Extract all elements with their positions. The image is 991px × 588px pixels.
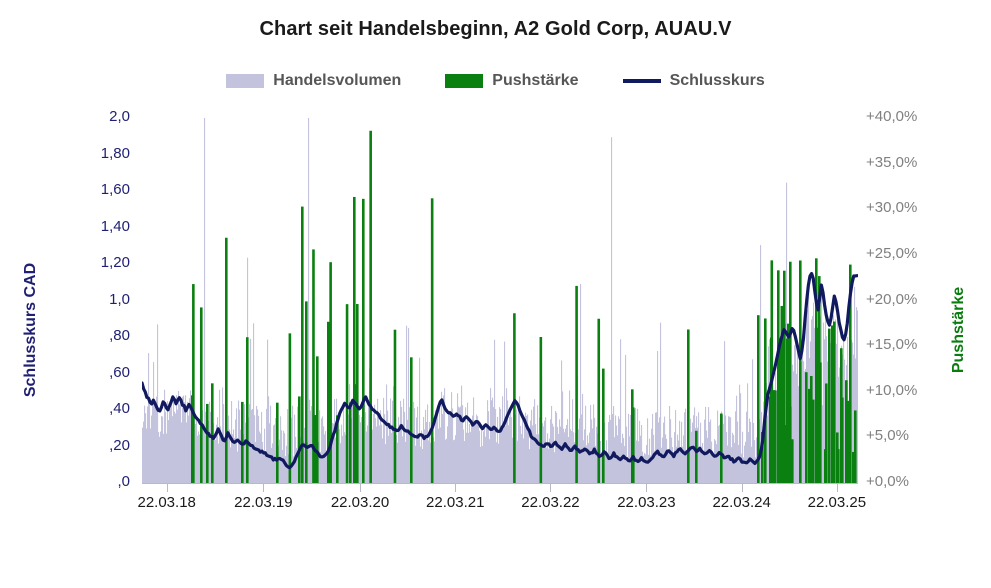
volume-bar — [797, 348, 798, 483]
push-bar — [513, 313, 516, 483]
volume-bar — [457, 393, 458, 483]
volume-bar — [172, 416, 173, 483]
volume-bar — [568, 437, 569, 483]
volume-bar — [175, 414, 176, 483]
volume-bar — [267, 340, 268, 483]
y-axis-right-tick-label: +0,0% — [866, 473, 936, 490]
x-axis-tick-mark — [167, 484, 168, 492]
volume-bar — [637, 409, 638, 483]
volume-bar — [145, 413, 146, 483]
volume-bar — [454, 440, 455, 483]
legend-item-pushstaerke[interactable]: Pushstärke — [445, 72, 578, 90]
volume-bar — [319, 410, 320, 483]
volume-bar — [669, 406, 670, 483]
volume-bar — [446, 439, 447, 483]
volume-bar — [166, 434, 167, 483]
volume-bar — [606, 440, 607, 483]
volume-bar — [256, 406, 257, 483]
volume-bar — [196, 418, 197, 483]
volume-bar — [456, 416, 457, 483]
volume-bar — [281, 430, 282, 483]
volume-bar — [163, 434, 164, 483]
volume-bar — [382, 438, 383, 483]
volume-bar — [729, 417, 730, 483]
volume-bar — [585, 406, 586, 483]
volume-bar — [215, 440, 216, 483]
volume-bar — [425, 410, 426, 483]
volume-bar — [746, 412, 747, 483]
volume-bar — [471, 425, 472, 483]
volume-bar — [751, 447, 752, 483]
volume-bar — [623, 438, 624, 483]
volume-bar — [186, 422, 187, 483]
volume-bar — [508, 425, 509, 483]
volume-bar — [625, 355, 626, 483]
volume-bar — [452, 408, 453, 483]
volume-bar — [702, 443, 703, 483]
volume-bar — [228, 416, 229, 483]
volume-bar — [522, 419, 523, 483]
y-axis-right-tick-label: +25,0% — [866, 245, 936, 262]
volume-bar — [155, 408, 156, 483]
volume-bar — [152, 399, 153, 483]
volume-bar — [678, 440, 679, 483]
y-axis-right-tick-label: +10,0% — [866, 382, 936, 399]
volume-bar — [404, 412, 405, 483]
volume-bar — [391, 433, 392, 483]
volume-bar — [475, 424, 476, 483]
volume-bar — [162, 417, 163, 483]
volume-bar — [511, 417, 512, 483]
volume-bar — [448, 411, 449, 483]
volume-bar — [245, 423, 246, 483]
volume-bar — [744, 446, 745, 483]
volume-bar — [644, 453, 645, 483]
volume-bar — [532, 425, 533, 483]
push-bar — [812, 400, 815, 483]
volume-bar — [188, 416, 189, 483]
x-axis-line — [142, 483, 858, 484]
volume-bar — [727, 446, 728, 483]
volume-bar — [560, 427, 561, 483]
volume-bar — [233, 429, 234, 483]
volume-bar — [142, 428, 143, 483]
volume-bar — [146, 429, 147, 483]
x-axis-tick-label: 22.03.20 — [305, 494, 415, 511]
y-axis-left-tick-label: ,60 — [72, 364, 130, 381]
volume-bar — [557, 427, 558, 483]
volume-bar — [463, 430, 464, 483]
push-bar — [369, 131, 372, 483]
volume-bar — [736, 396, 737, 483]
volume-bar — [161, 416, 162, 483]
push-bar — [720, 414, 723, 483]
y-axis-right-tick-label: +40,0% — [866, 108, 936, 125]
volume-bar — [359, 415, 360, 483]
volume-bar — [624, 446, 625, 483]
volume-bar — [639, 421, 640, 483]
volume-bar — [498, 444, 499, 483]
volume-bar — [492, 398, 493, 483]
volume-bar — [447, 426, 448, 483]
push-bar — [301, 207, 304, 483]
volume-bar — [501, 432, 502, 483]
volume-bar — [550, 419, 551, 483]
volume-bar — [804, 371, 805, 483]
volume-bar — [253, 323, 254, 483]
volume-bar — [297, 407, 298, 483]
volume-bar — [250, 339, 251, 483]
volume-bar — [706, 431, 707, 483]
y-axis-left-tick-label: 2,0 — [72, 108, 130, 125]
volume-bar — [287, 409, 288, 483]
volume-bar — [630, 415, 631, 483]
volume-bar — [171, 403, 172, 483]
volume-bar — [738, 445, 739, 483]
volume-bar — [442, 414, 443, 483]
x-axis-tick-mark — [837, 484, 838, 492]
volume-bar — [170, 409, 171, 483]
volume-bar — [582, 394, 583, 483]
x-axis-tick-label: 22.03.24 — [687, 494, 797, 511]
volume-bar — [387, 411, 388, 483]
push-bar — [356, 304, 359, 483]
volume-bar — [584, 429, 585, 483]
volume-bar — [352, 404, 353, 483]
x-axis-tick-mark — [646, 484, 647, 492]
volume-bar — [504, 342, 505, 483]
volume-bar — [366, 432, 367, 483]
volume-bar — [563, 429, 564, 483]
volume-bar — [559, 419, 560, 483]
volume-bar — [700, 423, 701, 483]
volume-bar — [857, 310, 858, 483]
volume-bar — [160, 432, 161, 483]
volume-bar — [198, 431, 199, 483]
push-bar — [349, 402, 352, 483]
volume-bar — [516, 410, 517, 483]
y-axis-right-title: Pushstärke — [944, 230, 974, 430]
volume-bar — [677, 435, 678, 483]
x-axis-tick-label: 22.03.19 — [208, 494, 318, 511]
volume-bar — [655, 413, 656, 483]
volume-bar — [556, 413, 557, 483]
volume-bar — [613, 406, 614, 483]
volume-bar — [453, 440, 454, 483]
volume-bar — [561, 360, 562, 483]
volume-bar — [144, 406, 145, 483]
volume-bar — [461, 386, 462, 483]
volume-bar — [473, 397, 474, 483]
volume-bar — [269, 423, 270, 483]
volume-bar — [143, 422, 144, 483]
volume-bar — [199, 435, 200, 483]
volume-bar — [280, 416, 281, 483]
volume-bar — [662, 437, 663, 483]
x-axis-tick-label: 22.03.25 — [782, 494, 892, 511]
volume-bar — [506, 388, 507, 483]
volume-bar — [716, 444, 717, 483]
volume-bar — [334, 399, 335, 483]
volume-bar — [730, 417, 731, 483]
volume-bar — [503, 427, 504, 483]
volume-bar — [445, 440, 446, 483]
volume-bar — [420, 447, 421, 483]
push-bar — [819, 362, 822, 483]
volume-bar — [462, 405, 463, 483]
volume-bar — [400, 401, 401, 483]
volume-bar — [647, 418, 648, 483]
volume-bar — [418, 435, 419, 483]
y-axis-right-tick-label: +20,0% — [866, 291, 936, 308]
volume-bar — [518, 403, 519, 483]
legend-label-pushstaerke: Pushstärke — [492, 72, 578, 90]
volume-bar — [581, 414, 582, 483]
volume-bar — [481, 424, 482, 483]
volume-bar — [373, 414, 374, 483]
x-axis-tick-label: 22.03.18 — [112, 494, 222, 511]
volume-bar — [468, 433, 469, 483]
volume-bar — [645, 454, 646, 483]
push-bar — [431, 198, 434, 483]
volume-bar — [578, 429, 579, 483]
volume-bar — [197, 436, 198, 483]
volume-bar — [529, 449, 530, 483]
volume-bar — [679, 421, 680, 483]
volume-bar — [209, 402, 210, 483]
push-bar — [791, 439, 794, 483]
volume-bar — [489, 439, 490, 483]
push-bar — [305, 301, 308, 483]
volume-bar — [521, 434, 522, 483]
volume-bar — [753, 423, 754, 483]
volume-bar — [583, 440, 584, 483]
volume-bar — [593, 404, 594, 483]
volume-bar — [236, 408, 237, 483]
y-axis-right-tick-label: +5,0% — [866, 427, 936, 444]
y-axis-left-tick-label: ,80 — [72, 327, 130, 344]
volume-bar — [553, 427, 554, 483]
x-axis-tick-mark — [742, 484, 743, 492]
plot-area — [142, 118, 858, 483]
push-bar — [837, 449, 840, 483]
volume-bar — [234, 438, 235, 483]
push-bar — [774, 391, 777, 483]
volume-bar — [533, 407, 534, 483]
push-bar — [276, 403, 279, 483]
volume-bar — [158, 432, 159, 483]
volume-bar — [712, 452, 713, 483]
y-axis-left-tick-label: ,40 — [72, 400, 130, 417]
volume-bar — [474, 424, 475, 483]
volume-bar — [476, 414, 477, 483]
legend-item-handelsvolumen[interactable]: Handelsvolumen — [226, 72, 401, 90]
volume-bar — [495, 409, 496, 483]
volume-bar — [284, 433, 285, 483]
volume-bar — [385, 444, 386, 483]
volume-bar — [308, 118, 309, 483]
volume-bar — [668, 453, 669, 483]
push-bar — [575, 286, 578, 483]
chart-legend: Handelsvolumen Pushstärke Schlusskurs — [0, 72, 991, 90]
volume-bar — [378, 416, 379, 483]
volume-bar — [619, 419, 620, 483]
volume-bar — [374, 405, 375, 483]
volume-bar — [691, 432, 692, 483]
volume-bar — [235, 420, 236, 483]
push-bar — [316, 356, 319, 483]
volume-bar — [570, 429, 571, 483]
volume-bar — [794, 345, 795, 483]
volume-bar — [543, 426, 544, 483]
volume-bar — [747, 383, 748, 483]
y-axis-left-title-text: Schlusskurs CAD — [22, 263, 40, 397]
volume-bar — [600, 441, 601, 483]
volume-bar — [552, 424, 553, 483]
volume-bar — [496, 442, 497, 483]
page-title: Chart seit Handelsbeginn, A2 Gold Corp, … — [0, 18, 991, 41]
volume-bar — [270, 406, 271, 483]
volume-bar — [502, 396, 503, 483]
legend-push-swatch-icon — [445, 74, 483, 88]
volume-bar — [415, 446, 416, 483]
volume-bar — [169, 403, 170, 483]
volume-bar — [752, 359, 753, 483]
volume-bar — [567, 419, 568, 483]
volume-bar — [589, 433, 590, 483]
volume-bar — [184, 402, 185, 483]
volume-bar — [466, 433, 467, 483]
volume-bar — [685, 409, 686, 483]
volume-bar — [477, 416, 478, 483]
volume-bar — [401, 407, 402, 483]
y-axis-left-title: Schlusskurs CAD — [16, 210, 46, 450]
volume-bar — [335, 438, 336, 483]
volume-bar — [402, 436, 403, 483]
volume-bar — [798, 386, 799, 483]
x-axis-tick-label: 22.03.23 — [591, 494, 701, 511]
volume-bar — [694, 407, 695, 483]
volume-bar — [383, 398, 384, 483]
volume-bar — [421, 431, 422, 483]
volume-bar — [748, 432, 749, 483]
volume-bar — [259, 432, 260, 484]
volume-bar — [485, 437, 486, 483]
legend-item-schlusskurs[interactable]: Schlusskurs — [623, 72, 765, 90]
volume-bar — [671, 438, 672, 483]
volume-bar — [419, 358, 420, 483]
volume-bar — [405, 442, 406, 483]
volume-bar — [341, 425, 342, 483]
volume-bar — [713, 455, 714, 483]
volume-bar — [438, 429, 439, 483]
volume-bar — [283, 431, 284, 483]
volume-bar — [544, 421, 545, 483]
volume-bar — [265, 453, 266, 483]
volume-bar — [728, 416, 729, 483]
volume-bar — [796, 374, 797, 483]
push-bar — [289, 333, 292, 483]
volume-bar — [749, 419, 750, 483]
volume-bar — [621, 443, 622, 483]
push-bar — [346, 304, 349, 483]
volume-bar — [230, 447, 231, 483]
legend-price-line-icon — [623, 79, 661, 83]
volume-bar — [520, 426, 521, 483]
volume-bar — [717, 410, 718, 483]
volume-bar — [262, 442, 263, 483]
volume-bar — [154, 401, 155, 483]
volume-bar — [372, 429, 373, 483]
volume-bar — [339, 429, 340, 483]
push-bar — [841, 398, 844, 484]
volume-bar — [588, 443, 589, 483]
volume-bar — [592, 428, 593, 483]
volume-bar — [422, 449, 423, 483]
volume-bar — [535, 424, 536, 483]
volume-bar — [562, 391, 563, 483]
volume-bar — [667, 453, 668, 483]
push-bar — [825, 383, 828, 483]
volume-bar — [367, 425, 368, 483]
volume-bar — [271, 448, 272, 483]
volume-bar — [381, 425, 382, 483]
volume-bar — [715, 441, 716, 483]
volume-bar — [187, 402, 188, 483]
volume-bar — [467, 403, 468, 483]
chart-canvas — [142, 118, 858, 483]
volume-bar — [505, 426, 506, 483]
volume-bar — [656, 412, 657, 483]
volume-bar — [803, 361, 804, 483]
x-axis-tick-label: 22.03.22 — [495, 494, 605, 511]
x-axis-tick-mark — [360, 484, 361, 492]
volume-bar — [240, 430, 241, 483]
push-bar — [854, 410, 857, 483]
volume-bar — [703, 453, 704, 483]
push-bar — [410, 357, 413, 483]
volume-bar — [417, 407, 418, 483]
push-bar — [192, 284, 195, 483]
volume-bar — [464, 441, 465, 483]
volume-bar — [510, 411, 511, 483]
volume-bar — [376, 427, 377, 483]
volume-bar — [484, 425, 485, 483]
y-axis-right-tick-label: +15,0% — [866, 336, 936, 353]
volume-bar — [423, 417, 424, 483]
volume-bar — [176, 395, 177, 483]
volume-bar — [427, 404, 428, 483]
volume-bar — [390, 399, 391, 483]
volume-bar — [564, 432, 565, 483]
volume-bar — [450, 412, 451, 483]
volume-bar — [268, 396, 269, 483]
volume-bar — [739, 385, 740, 483]
volume-bar — [587, 435, 588, 483]
volume-bar — [153, 362, 154, 483]
push-bar — [632, 407, 635, 483]
volume-bar — [239, 410, 240, 483]
volume-bar — [449, 411, 450, 483]
volume-bar — [342, 436, 343, 483]
y-axis-left-tick-label: 1,80 — [72, 145, 130, 162]
volume-bar — [147, 406, 148, 483]
push-bar — [327, 322, 330, 483]
volume-bar — [165, 412, 166, 483]
volume-bar — [361, 417, 362, 483]
volume-bar — [266, 409, 267, 483]
volume-bar — [321, 419, 322, 483]
